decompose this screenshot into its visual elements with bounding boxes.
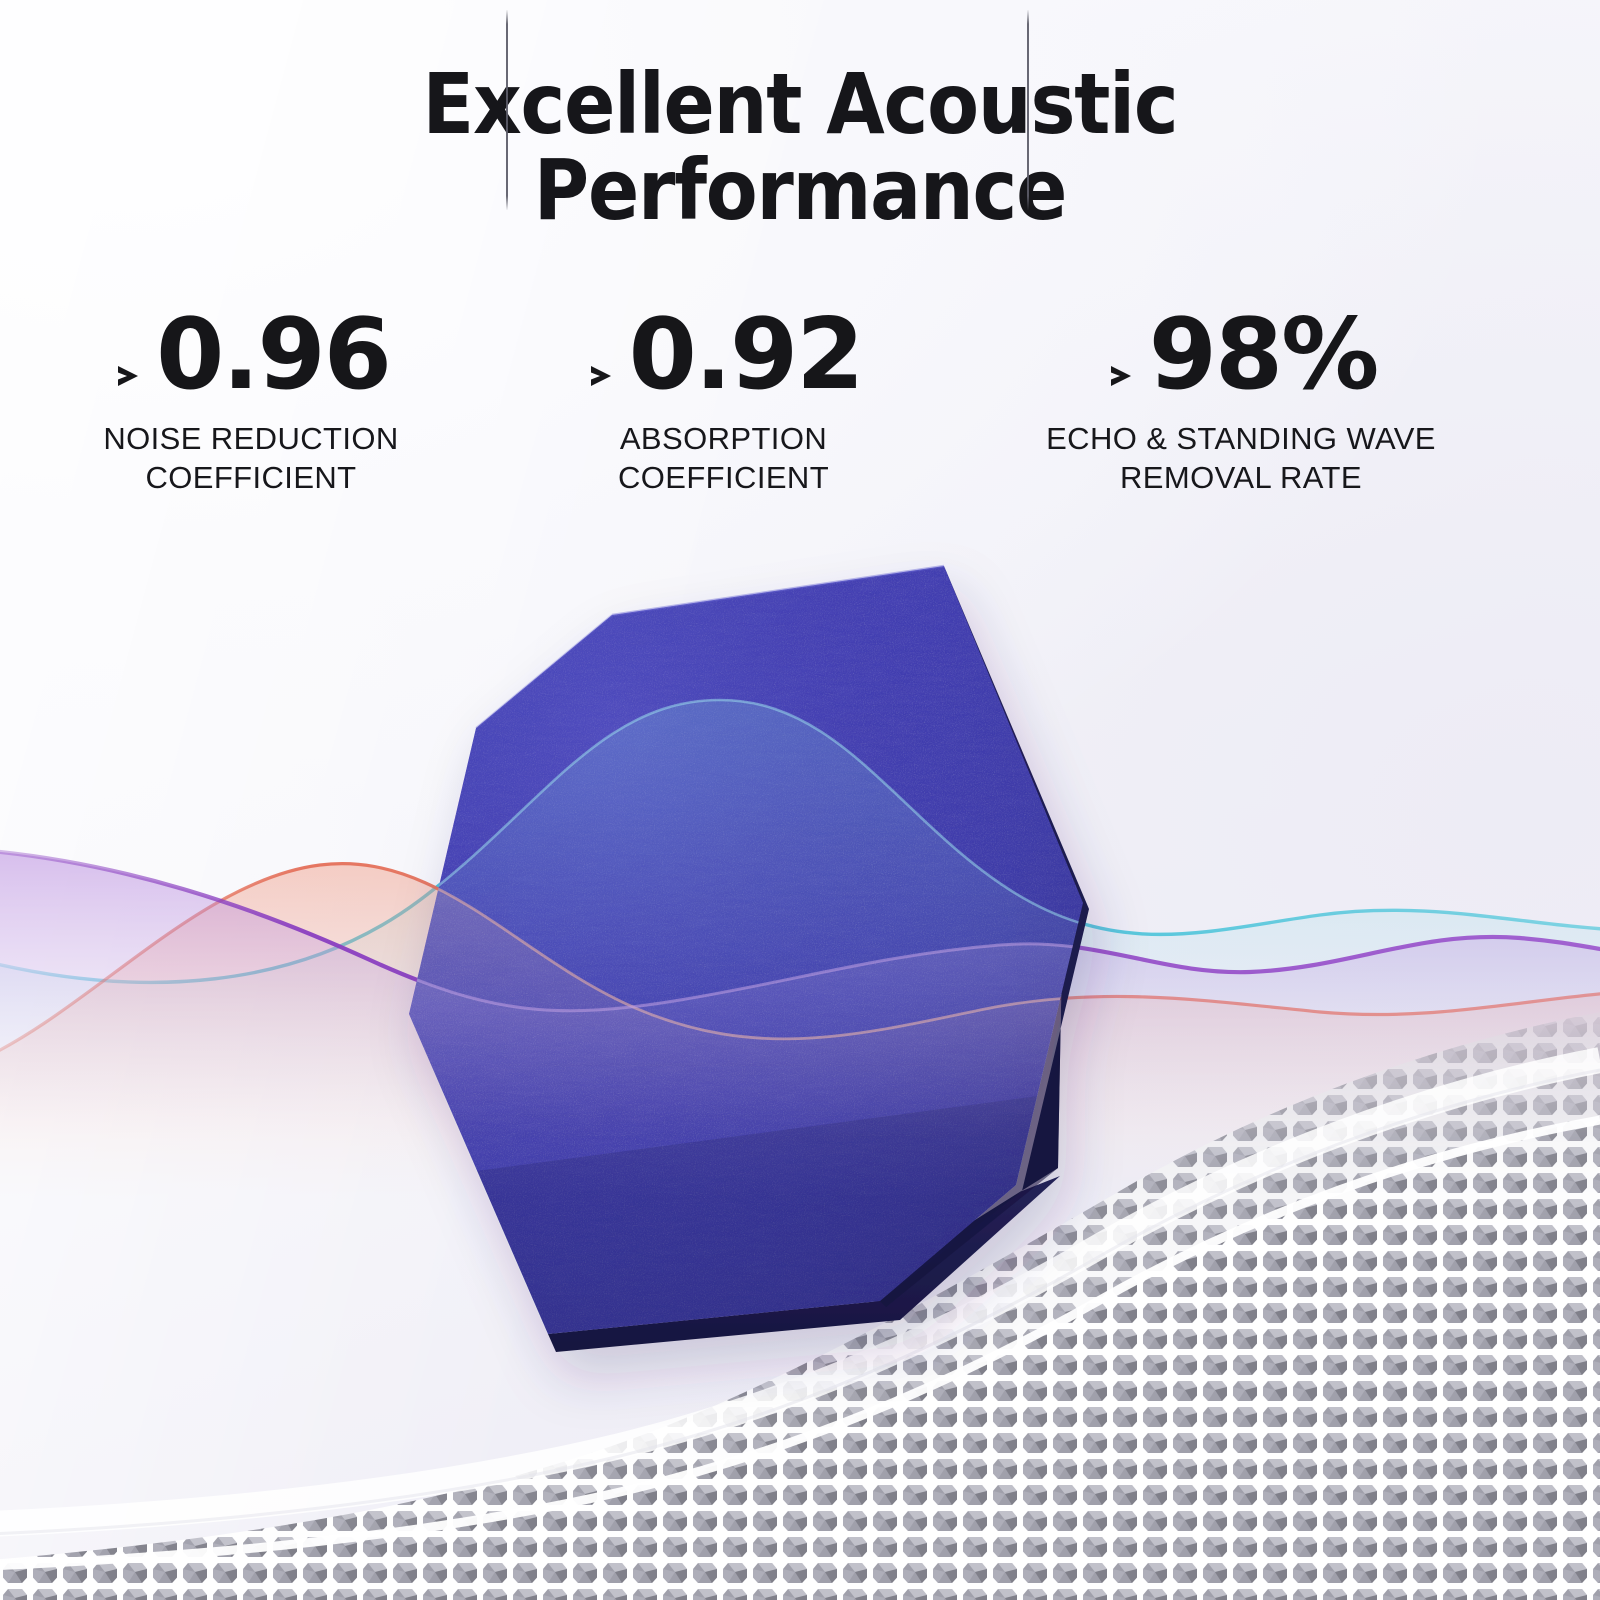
stat-divider-1	[506, 10, 508, 210]
stat-value: 0.92	[585, 288, 863, 400]
stat-value: 0.96	[112, 288, 390, 400]
stat-absorption-coefficient: 0.92 ABSORPTION COEFFICIENT	[486, 286, 961, 498]
stats-row: 0.96 NOISE REDUCTION COEFFICIENT 0.92 AB…	[0, 286, 1600, 501]
greater-than-icon	[585, 354, 619, 388]
stat-noise-reduction-coefficient: 0.96 NOISE REDUCTION COEFFICIENT	[16, 286, 486, 498]
stat-label: ABSORPTION COEFFICIENT	[618, 420, 829, 498]
stat-value: 98%	[1105, 288, 1378, 400]
stat-echo-standing-wave-removal-rate: 98% ECHO & STANDING WAVE REMOVAL RATE	[961, 286, 1521, 498]
stat-divider-2	[1027, 10, 1029, 210]
stat-number: 0.92	[629, 310, 863, 400]
stat-label: NOISE REDUCTION COEFFICIENT	[103, 420, 398, 498]
stat-number: 98%	[1149, 310, 1378, 400]
header: Excellent Acoustic Performance	[0, 62, 1600, 233]
stat-label: ECHO & STANDING WAVE REMOVAL RATE	[1046, 420, 1436, 498]
stat-number: 0.96	[156, 310, 390, 400]
greater-than-icon	[1105, 354, 1139, 388]
sound-wave-graphic-front	[0, 0, 1600, 1600]
page-title: Excellent Acoustic Performance	[0, 62, 1600, 233]
greater-than-icon	[112, 354, 146, 388]
